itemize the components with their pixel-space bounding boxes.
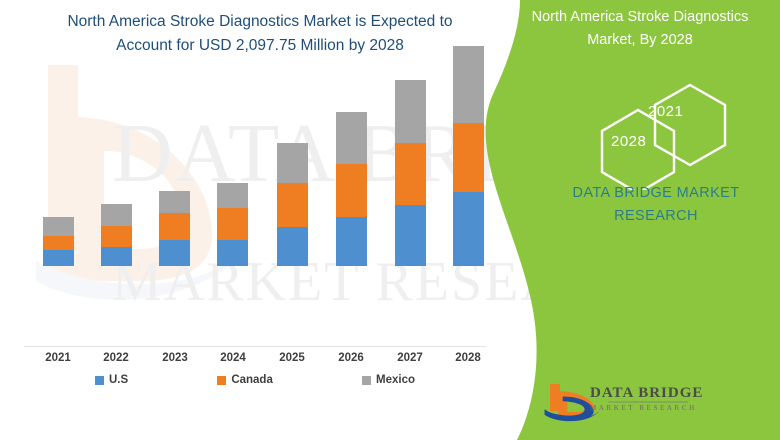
chart-plot-area — [0, 0, 500, 360]
bar-segment-us — [159, 240, 190, 266]
x-tick-2022: 2022 — [86, 352, 146, 364]
panel-title: North America Stroke Diagnostics Market,… — [512, 6, 768, 52]
chart-legend: U.S Canada Mexico — [95, 374, 415, 386]
logo-name-secondary: MARKET RESEARCH — [590, 404, 697, 412]
table-row[interactable] — [395, 80, 426, 266]
x-tick-2024: 2024 — [203, 352, 263, 364]
x-tick-2021: 2021 — [28, 352, 88, 364]
infographic-canvas: DATA BRIDGE MARKET RESEARCH North Americ… — [0, 0, 780, 440]
table-row[interactable] — [336, 112, 367, 266]
x-tick-2023: 2023 — [145, 352, 205, 364]
table-row[interactable] — [159, 191, 190, 266]
bar-segment-us — [217, 240, 248, 266]
stacked-bar-chart: 2021 2022 2023 2024 2025 2026 2027 2028 … — [0, 0, 500, 400]
x-tick-2025: 2025 — [262, 352, 322, 364]
hexagon-2021-label: 2021 — [648, 103, 683, 120]
legend-item-canada[interactable]: Canada — [217, 374, 273, 386]
bar-segment-mexico — [336, 112, 367, 164]
bar-segment-canada — [217, 208, 248, 240]
bar-segment-us — [395, 205, 426, 266]
bar-segment-mexico — [395, 80, 426, 143]
x-tick-2027: 2027 — [380, 352, 440, 364]
table-row[interactable] — [101, 204, 132, 266]
bar-segment-us — [43, 250, 74, 266]
bar-segment-mexico — [43, 217, 74, 236]
x-tick-2026: 2026 — [321, 352, 381, 364]
bar-segment-canada — [395, 143, 426, 205]
bar-segment-canada — [101, 226, 132, 247]
bar-segment-us — [336, 217, 367, 266]
bar-segment-mexico — [101, 204, 132, 226]
legend-label-us: U.S — [109, 374, 128, 386]
logo-name-primary: DATA BRIDGE — [590, 385, 703, 402]
legend-item-mexico[interactable]: Mexico — [362, 374, 415, 386]
x-axis-line — [24, 346, 486, 347]
bar-segment-us — [101, 247, 132, 266]
hexagon-group — [570, 80, 760, 190]
bar-segment-mexico — [159, 191, 190, 213]
bar-segment-mexico — [217, 183, 248, 208]
table-row[interactable] — [217, 183, 248, 266]
bar-segment-mexico — [277, 143, 308, 183]
bar-segment-us — [277, 227, 308, 266]
bar-segment-canada — [159, 213, 190, 240]
legend-swatch-canada-icon — [217, 376, 226, 385]
legend-label-mexico: Mexico — [376, 374, 415, 386]
bar-segment-canada — [277, 183, 308, 227]
table-row[interactable] — [277, 143, 308, 266]
hexagon-2028-label: 2028 — [611, 133, 646, 150]
bar-segment-canada — [43, 236, 74, 250]
table-row[interactable] — [43, 217, 74, 266]
legend-item-us[interactable]: U.S — [95, 374, 128, 386]
legend-swatch-us-icon — [95, 376, 104, 385]
legend-swatch-mexico-icon — [362, 376, 371, 385]
bar-segment-canada — [336, 164, 367, 217]
brand-tagline: DATA BRIDGE MARKET RESEARCH — [548, 182, 764, 228]
legend-label-canada: Canada — [231, 374, 273, 386]
